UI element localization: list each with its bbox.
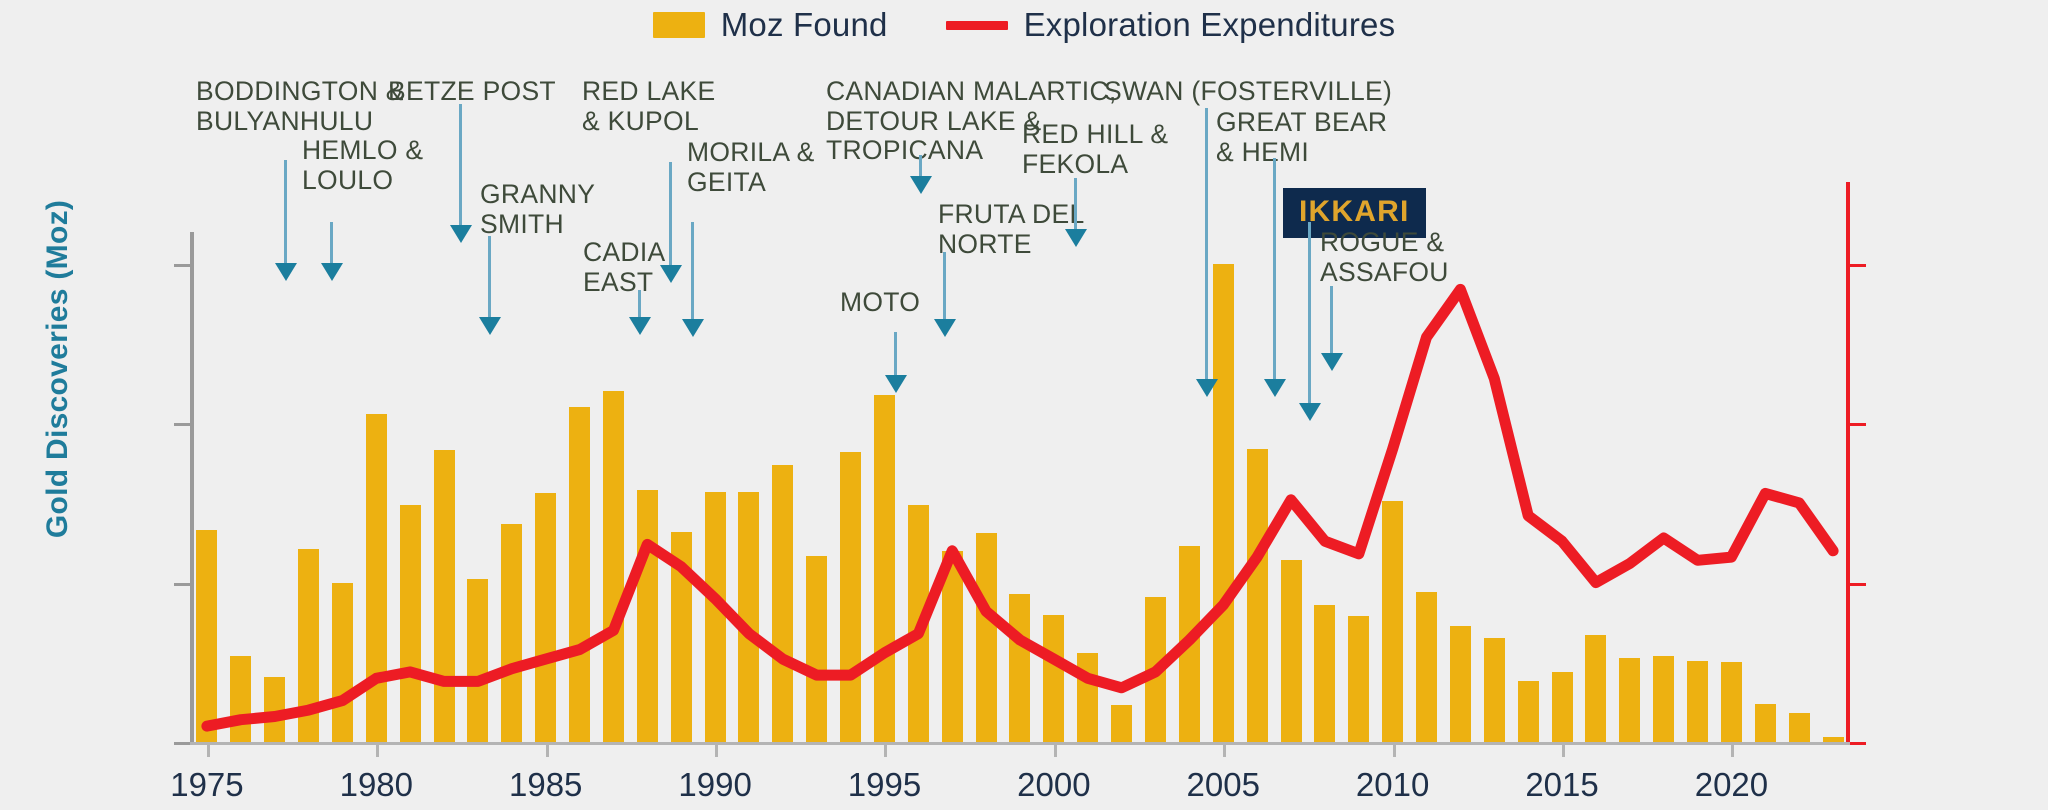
x-tick-label: 2005 bbox=[1187, 766, 1260, 804]
annotation-arrow-icon bbox=[330, 222, 333, 264]
annotation-label: BODDINGTON & BULYANHULU bbox=[196, 77, 404, 136]
annotation-label: MOTO bbox=[840, 288, 920, 318]
left-tick-mark bbox=[174, 583, 190, 586]
annotation-arrow-icon bbox=[284, 160, 287, 264]
annotation-label: BETZE POST bbox=[388, 77, 556, 107]
x-tick-mark bbox=[1562, 742, 1565, 757]
x-tick-label: 2010 bbox=[1356, 766, 1429, 804]
x-tick-label: 2020 bbox=[1695, 766, 1768, 804]
x-tick-mark bbox=[1223, 742, 1226, 757]
annotation-arrow-icon bbox=[488, 236, 491, 318]
x-tick-label: 1995 bbox=[848, 766, 921, 804]
x-tick-mark bbox=[715, 742, 718, 757]
x-tick-mark bbox=[884, 742, 887, 757]
x-tick-label: 1990 bbox=[678, 766, 751, 804]
annotation-arrow-icon bbox=[1273, 158, 1276, 380]
x-tick-mark bbox=[1393, 742, 1396, 757]
x-tick-mark bbox=[207, 742, 210, 757]
x-tick-mark bbox=[1731, 742, 1734, 757]
x-tick-label: 1975 bbox=[170, 766, 243, 804]
right-tick-mark bbox=[1850, 583, 1866, 586]
annotation-arrow-icon bbox=[1308, 222, 1311, 404]
annotation-arrow-icon bbox=[919, 155, 922, 177]
annotation-label: GREAT BEAR & HEMI bbox=[1216, 108, 1387, 167]
annotation-label: CADIA EAST bbox=[583, 238, 666, 297]
annotation-arrow-icon bbox=[1205, 108, 1208, 380]
legend-item-moz-found[interactable]: Moz Found bbox=[653, 6, 888, 44]
right-tick-mark bbox=[1850, 264, 1866, 267]
annotation-label: MORILA & GEITA bbox=[687, 138, 815, 197]
legend-label-exploration-expenditures: Exploration Expenditures bbox=[1024, 6, 1396, 44]
annotation-arrow-icon bbox=[459, 104, 462, 226]
x-tick-mark bbox=[1054, 742, 1057, 757]
annotation-label: ROGUE & ASSAFOU bbox=[1320, 228, 1449, 287]
left-tick-mark bbox=[174, 264, 190, 267]
x-tick-mark bbox=[376, 742, 379, 757]
left-axis-title: Gold Discoveries (Moz) bbox=[41, 159, 75, 579]
annotation-arrow-icon bbox=[638, 290, 641, 318]
legend-label-moz-found: Moz Found bbox=[721, 6, 888, 44]
annotation-arrow-icon bbox=[943, 252, 946, 320]
annotation-label: HEMLO & LOULO bbox=[302, 136, 423, 195]
x-tick-label: 1985 bbox=[509, 766, 582, 804]
x-tick-label: 2000 bbox=[1017, 766, 1090, 804]
x-tick-label: 2015 bbox=[1525, 766, 1598, 804]
annotation-label: GRANNY SMITH bbox=[480, 180, 595, 239]
annotation-arrow-icon bbox=[894, 332, 897, 376]
right-tick-mark bbox=[1850, 423, 1866, 426]
plot-area: 0100200300 $0$5$10$15 197519801985199019… bbox=[190, 232, 1850, 742]
chart-legend: Moz Found Exploration Expenditures bbox=[0, 6, 2048, 44]
legend-item-exploration-expenditures[interactable]: Exploration Expenditures bbox=[946, 6, 1396, 44]
x-tick-label: 1980 bbox=[340, 766, 413, 804]
annotation-label: RED LAKE & KUPOL bbox=[582, 77, 715, 136]
chart-root: Moz Found Exploration Expenditures Gold … bbox=[0, 0, 2048, 810]
annotation-label: SWAN (FOSTERVILLE) bbox=[1104, 77, 1392, 107]
right-tick-mark bbox=[1850, 742, 1866, 745]
annotation-arrow-icon bbox=[669, 162, 672, 266]
legend-line-swatch-icon bbox=[946, 21, 1008, 30]
annotation-arrow-icon bbox=[691, 222, 694, 320]
x-tick-mark bbox=[546, 742, 549, 757]
annotation-label: RED HILL & FEKOLA bbox=[1022, 120, 1168, 179]
annotation-label: FRUTA DEL NORTE bbox=[938, 200, 1085, 259]
annotation-arrow-icon bbox=[1074, 178, 1077, 230]
legend-bar-swatch-icon bbox=[653, 12, 705, 38]
annotation-arrow-icon bbox=[1330, 286, 1333, 354]
left-tick-mark bbox=[174, 742, 190, 745]
left-tick-mark bbox=[174, 423, 190, 426]
